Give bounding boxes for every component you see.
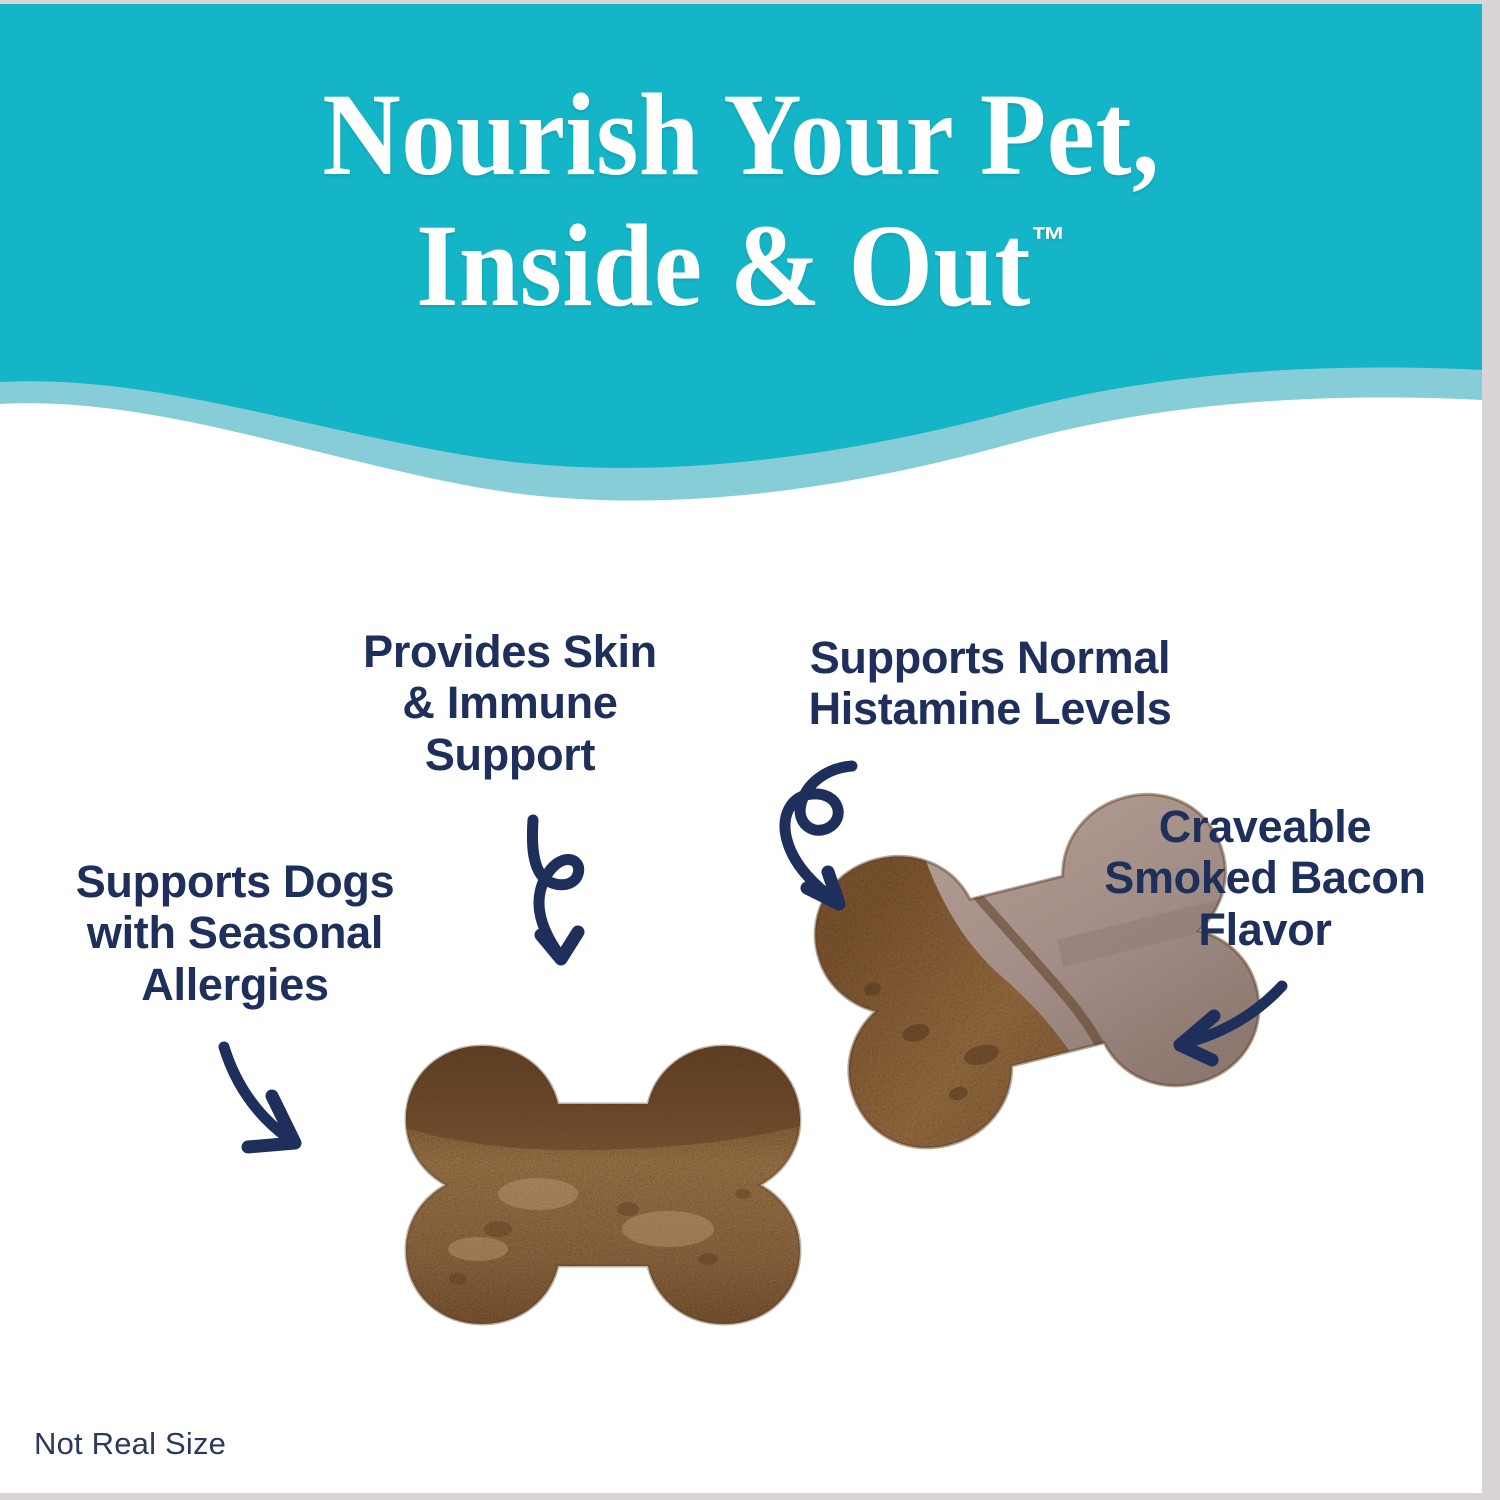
callout-skin-immune-line-2: & Immune [300, 677, 720, 728]
callout-skin-immune-line-1: Provides Skin [300, 626, 720, 677]
headline: Nourish Your Pet, Inside & Out™ [0, 74, 1482, 327]
callout-allergies-line-3: Allergies [20, 959, 450, 1010]
headline-line-1: Nourish Your Pet, [59, 74, 1422, 197]
callout-histamine-line-2: Histamine Levels [740, 683, 1240, 734]
trademark-symbol: ™ [1031, 220, 1066, 262]
callout-bacon-line-2: Smoked Bacon [1055, 852, 1475, 903]
not-real-size-footnote: Not Real Size [34, 1426, 226, 1462]
callout-allergies-line-1: Supports Dogs [20, 856, 450, 907]
callout-allergies-line-2: with Seasonal [20, 907, 450, 958]
callout-bacon-line-1: Craveable [1055, 801, 1475, 852]
product-marketing-graphic: Nourish Your Pet, Inside & Out™ [0, 0, 1500, 1500]
callout-allergies: Supports Dogs with Seasonal Allergies [20, 856, 450, 1010]
treat-front [388, 1014, 828, 1324]
graphic-card: Nourish Your Pet, Inside & Out™ [0, 4, 1482, 1493]
headline-line-2-text: Inside & Out [416, 200, 1031, 331]
callout-bacon: Craveable Smoked Bacon Flavor [1055, 801, 1475, 955]
callout-histamine-line-1: Supports Normal [740, 632, 1240, 683]
callout-skin-immune: Provides Skin & Immune Support [300, 626, 720, 780]
callout-skin-immune-line-3: Support [300, 729, 720, 780]
headline-line-2: Inside & Out™ [59, 205, 1422, 328]
callout-bacon-line-3: Flavor [1055, 904, 1475, 955]
callout-histamine: Supports Normal Histamine Levels [740, 632, 1240, 735]
